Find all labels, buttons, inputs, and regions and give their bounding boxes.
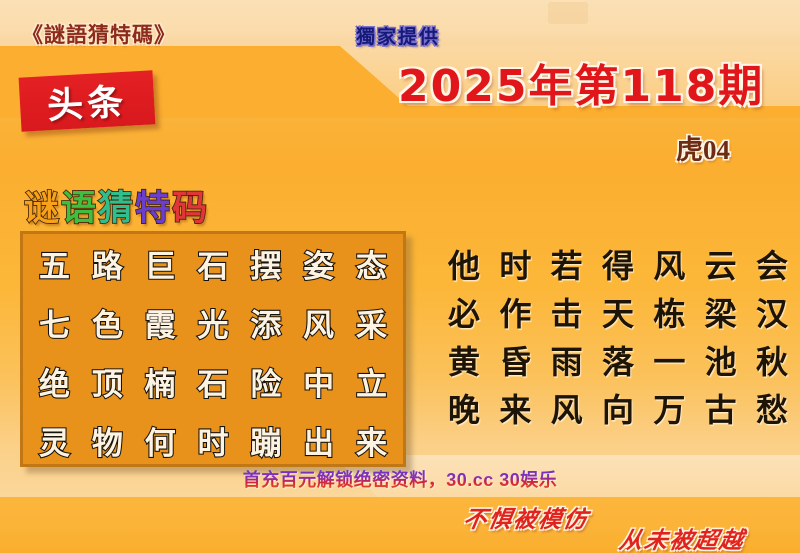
riddle-line: 绝 顶 楠 石 险 中 立 — [23, 352, 403, 411]
traditional-title: 《謎語猜特碼》 — [22, 19, 176, 49]
riddle-char: 蹦 — [250, 418, 281, 463]
riddle-char: 七 — [39, 300, 70, 345]
faint-watermark — [548, 2, 588, 24]
poem-char: 秋 — [756, 337, 788, 383]
poem-char: 落 — [602, 337, 634, 383]
promo-banner: 首充百元解锁绝密资料，30.cc 30娱乐 — [0, 466, 800, 492]
riddle-char: 路 — [92, 241, 123, 286]
poem-char: 愁 — [756, 385, 788, 431]
riddle-char: 姿 — [303, 241, 334, 286]
riddle-line: 五 路 巨 石 摆 姿 态 — [23, 234, 403, 293]
poem-char: 晚 — [448, 385, 480, 431]
riddle-char: 物 — [92, 418, 123, 463]
poem-char: 风 — [653, 241, 685, 287]
poem-char: 雨 — [551, 337, 583, 383]
poem-block: 他 时 若 得 风 云 会 必 作 击 天 栋 梁 汉 黄 昏 雨 落 一 池 … — [448, 240, 788, 432]
poem-line: 晚 来 风 向 万 古 愁 — [448, 384, 788, 432]
headline-badge-label: 头条 — [46, 73, 129, 129]
rainbow-char-1: 谜 — [24, 189, 61, 228]
zodiac-code: 虎04 — [676, 128, 730, 167]
riddle-char: 何 — [145, 418, 176, 463]
poem-char: 他 — [448, 241, 480, 287]
riddle-char: 摆 — [250, 241, 281, 286]
poem-char: 一 — [653, 337, 685, 383]
riddle-char: 楠 — [145, 359, 176, 404]
slogan-left: 不惧被模仿 — [461, 500, 592, 534]
exclusive-label: 獨家提供 — [356, 22, 440, 49]
poem-char: 汉 — [756, 289, 788, 335]
poem-char: 梁 — [705, 289, 737, 335]
riddle-char: 霞 — [145, 300, 176, 345]
rainbow-char-4: 特 — [135, 189, 172, 228]
poem-char: 作 — [499, 289, 531, 335]
poem-char: 云 — [705, 241, 737, 287]
rainbow-title: 谜语猜特码 — [24, 180, 209, 231]
poem-char: 时 — [499, 241, 531, 287]
riddle-char: 出 — [303, 418, 334, 463]
poem-line: 黄 昏 雨 落 一 池 秋 — [448, 336, 788, 384]
riddle-char: 来 — [356, 418, 387, 463]
poem-char: 风 — [551, 385, 583, 431]
riddle-box: 五 路 巨 石 摆 姿 态 七 色 霞 光 添 风 采 绝 顶 楠 石 险 中 … — [20, 231, 406, 467]
poem-line: 他 时 若 得 风 云 会 — [448, 240, 788, 288]
riddle-char: 顶 — [92, 359, 123, 404]
riddle-char: 时 — [197, 418, 228, 463]
riddle-char: 添 — [250, 300, 281, 345]
riddle-char: 绝 — [39, 359, 70, 404]
poem-char: 会 — [756, 241, 788, 287]
poem-char: 天 — [602, 289, 634, 335]
poem-char: 栋 — [653, 289, 685, 335]
poem-char: 古 — [705, 385, 737, 431]
poem-line: 必 作 击 天 栋 梁 汉 — [448, 288, 788, 336]
slogan-right: 从未被超越 — [617, 521, 748, 553]
poem-char: 得 — [602, 241, 634, 287]
promo-text: 首充百元解锁绝密资料，30.cc 30娱乐 — [243, 470, 558, 490]
riddle-char: 石 — [197, 241, 228, 286]
poem-char: 池 — [705, 337, 737, 383]
riddle-char: 色 — [92, 300, 123, 345]
issue-title: 2025年第118期 — [398, 50, 764, 114]
poem-char: 来 — [499, 385, 531, 431]
rainbow-char-5: 码 — [172, 189, 209, 228]
riddle-char: 中 — [303, 359, 334, 404]
rainbow-char-3: 猜 — [98, 189, 135, 228]
riddle-char: 态 — [356, 241, 387, 286]
headline-badge: 头条 — [19, 70, 156, 131]
riddle-char: 灵 — [39, 418, 70, 463]
riddle-char: 五 — [39, 241, 70, 286]
poem-char: 昏 — [499, 337, 531, 383]
riddle-line: 灵 物 何 时 蹦 出 来 — [23, 411, 403, 470]
riddle-char: 险 — [250, 359, 281, 404]
poem-char: 必 — [448, 289, 480, 335]
riddle-char: 采 — [356, 300, 387, 345]
poster-root: 《謎語猜特碼》 獨家提供 2025年第118期 虎04 头条 谜语猜特码 五 路… — [0, 0, 800, 553]
riddle-line: 七 色 霞 光 添 风 采 — [23, 293, 403, 352]
riddle-char: 巨 — [145, 241, 176, 286]
poem-char: 击 — [551, 289, 583, 335]
poem-char: 向 — [602, 385, 634, 431]
poem-char: 万 — [653, 385, 685, 431]
poem-char: 黄 — [448, 337, 480, 383]
poem-char: 若 — [551, 241, 583, 287]
riddle-char: 立 — [356, 359, 387, 404]
riddle-char: 光 — [197, 300, 228, 345]
rainbow-char-2: 语 — [61, 189, 98, 228]
riddle-char: 石 — [197, 359, 228, 404]
riddle-char: 风 — [303, 300, 334, 345]
